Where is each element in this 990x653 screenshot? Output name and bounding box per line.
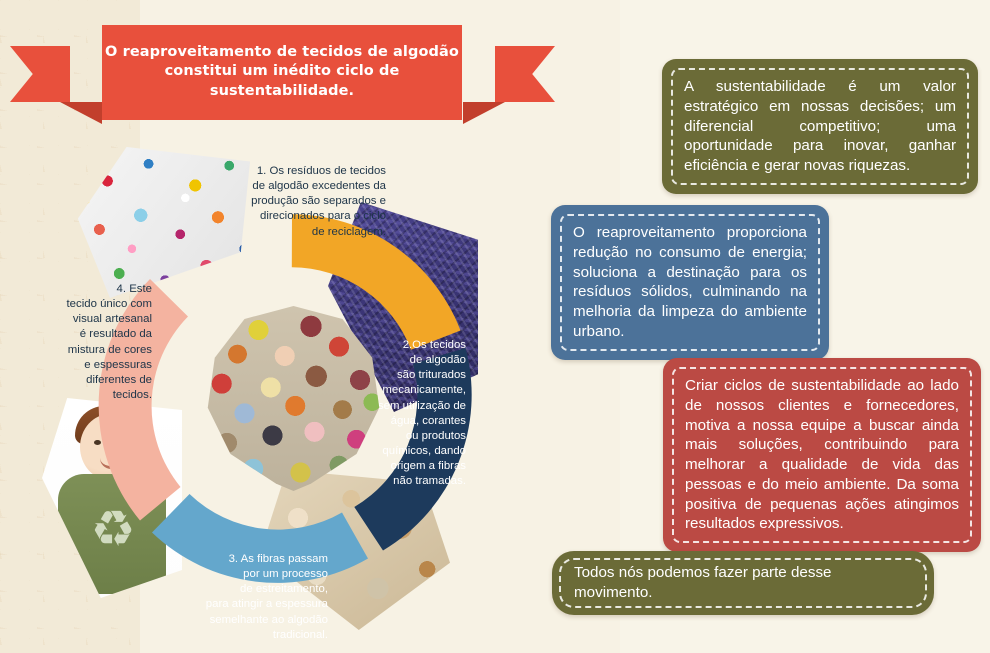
callout-movimento: Todos nós podemos fazer parte desse movi… — [552, 551, 934, 615]
step4-line: 4. Este — [30, 282, 152, 297]
ribbon-tail-right — [495, 46, 555, 102]
step2-line: origem a fibras — [338, 459, 466, 474]
step1-line: produção são separados e — [226, 194, 386, 209]
ribbon-banner: O reaproveitamento de tecidos de algodão… — [10, 20, 555, 120]
step4-line: e espessuras — [30, 358, 152, 373]
callout-ciclos: Criar ciclos de sustentabilidade ao lado… — [663, 358, 981, 552]
infographic-canvas: O reaproveitamento de tecidos de algodão… — [0, 0, 990, 653]
callout-text: Criar ciclos de sustentabilidade ao lado… — [663, 358, 981, 552]
banner-headline-line1: O reaproveitamento de tecidos de algodão — [105, 43, 459, 63]
step3-line: para atingir a espessura — [153, 597, 328, 612]
step4-line: tecido único com — [30, 297, 152, 312]
callout-text: O reaproveitamento proporciona redução n… — [551, 205, 829, 360]
ribbon-tail-left — [10, 46, 70, 102]
banner-headline-line2: constitui um inédito ciclo de sustentabi… — [102, 62, 462, 101]
step4-line: tecidos. — [30, 388, 152, 403]
step1-line: direcionados para o ciclo — [226, 209, 386, 224]
cycle-step-3-label: 3. As fibras passam por um processo de e… — [153, 552, 328, 643]
step3-line: semelhante ao algodão — [153, 613, 328, 628]
step3-line: de estreitamento, — [153, 582, 328, 597]
cycle-step-4-label: 4. Este tecido único com visual artesana… — [30, 282, 152, 403]
step3-line: 3. As fibras passam — [153, 552, 328, 567]
step1-line: 1. Os resíduos de tecidos — [226, 164, 386, 179]
step1-line: de reciclagem. — [226, 225, 386, 240]
cycle-step-1-label: 1. Os resíduos de tecidos de algodão exc… — [226, 164, 386, 240]
callout-reaproveitamento: O reaproveitamento proporciona redução n… — [551, 205, 829, 360]
callout-text: A sustentabilidade é um valor estratégic… — [662, 59, 978, 194]
step4-line: visual artesanal — [30, 312, 152, 327]
callout-sustentabilidade: A sustentabilidade é um valor estratégic… — [662, 59, 978, 194]
step1-line: de algodão excedentes da — [226, 179, 386, 194]
step4-line: diferentes de — [30, 373, 152, 388]
ribbon-body: O reaproveitamento de tecidos de algodão… — [102, 25, 462, 120]
step4-line: é resultado da — [30, 327, 152, 342]
callout-text: Todos nós podemos fazer parte desse movi… — [552, 551, 934, 615]
step3-line: por um processo — [153, 567, 328, 582]
sustainability-cycle-diagram: ♻ 1. Os resíduos de tecidos de algodão e… — [28, 140, 548, 650]
step2-line: não tramadas. — [338, 474, 466, 489]
step3-line: tradicional. — [153, 628, 328, 643]
step4-line: mistura de cores — [30, 343, 152, 358]
